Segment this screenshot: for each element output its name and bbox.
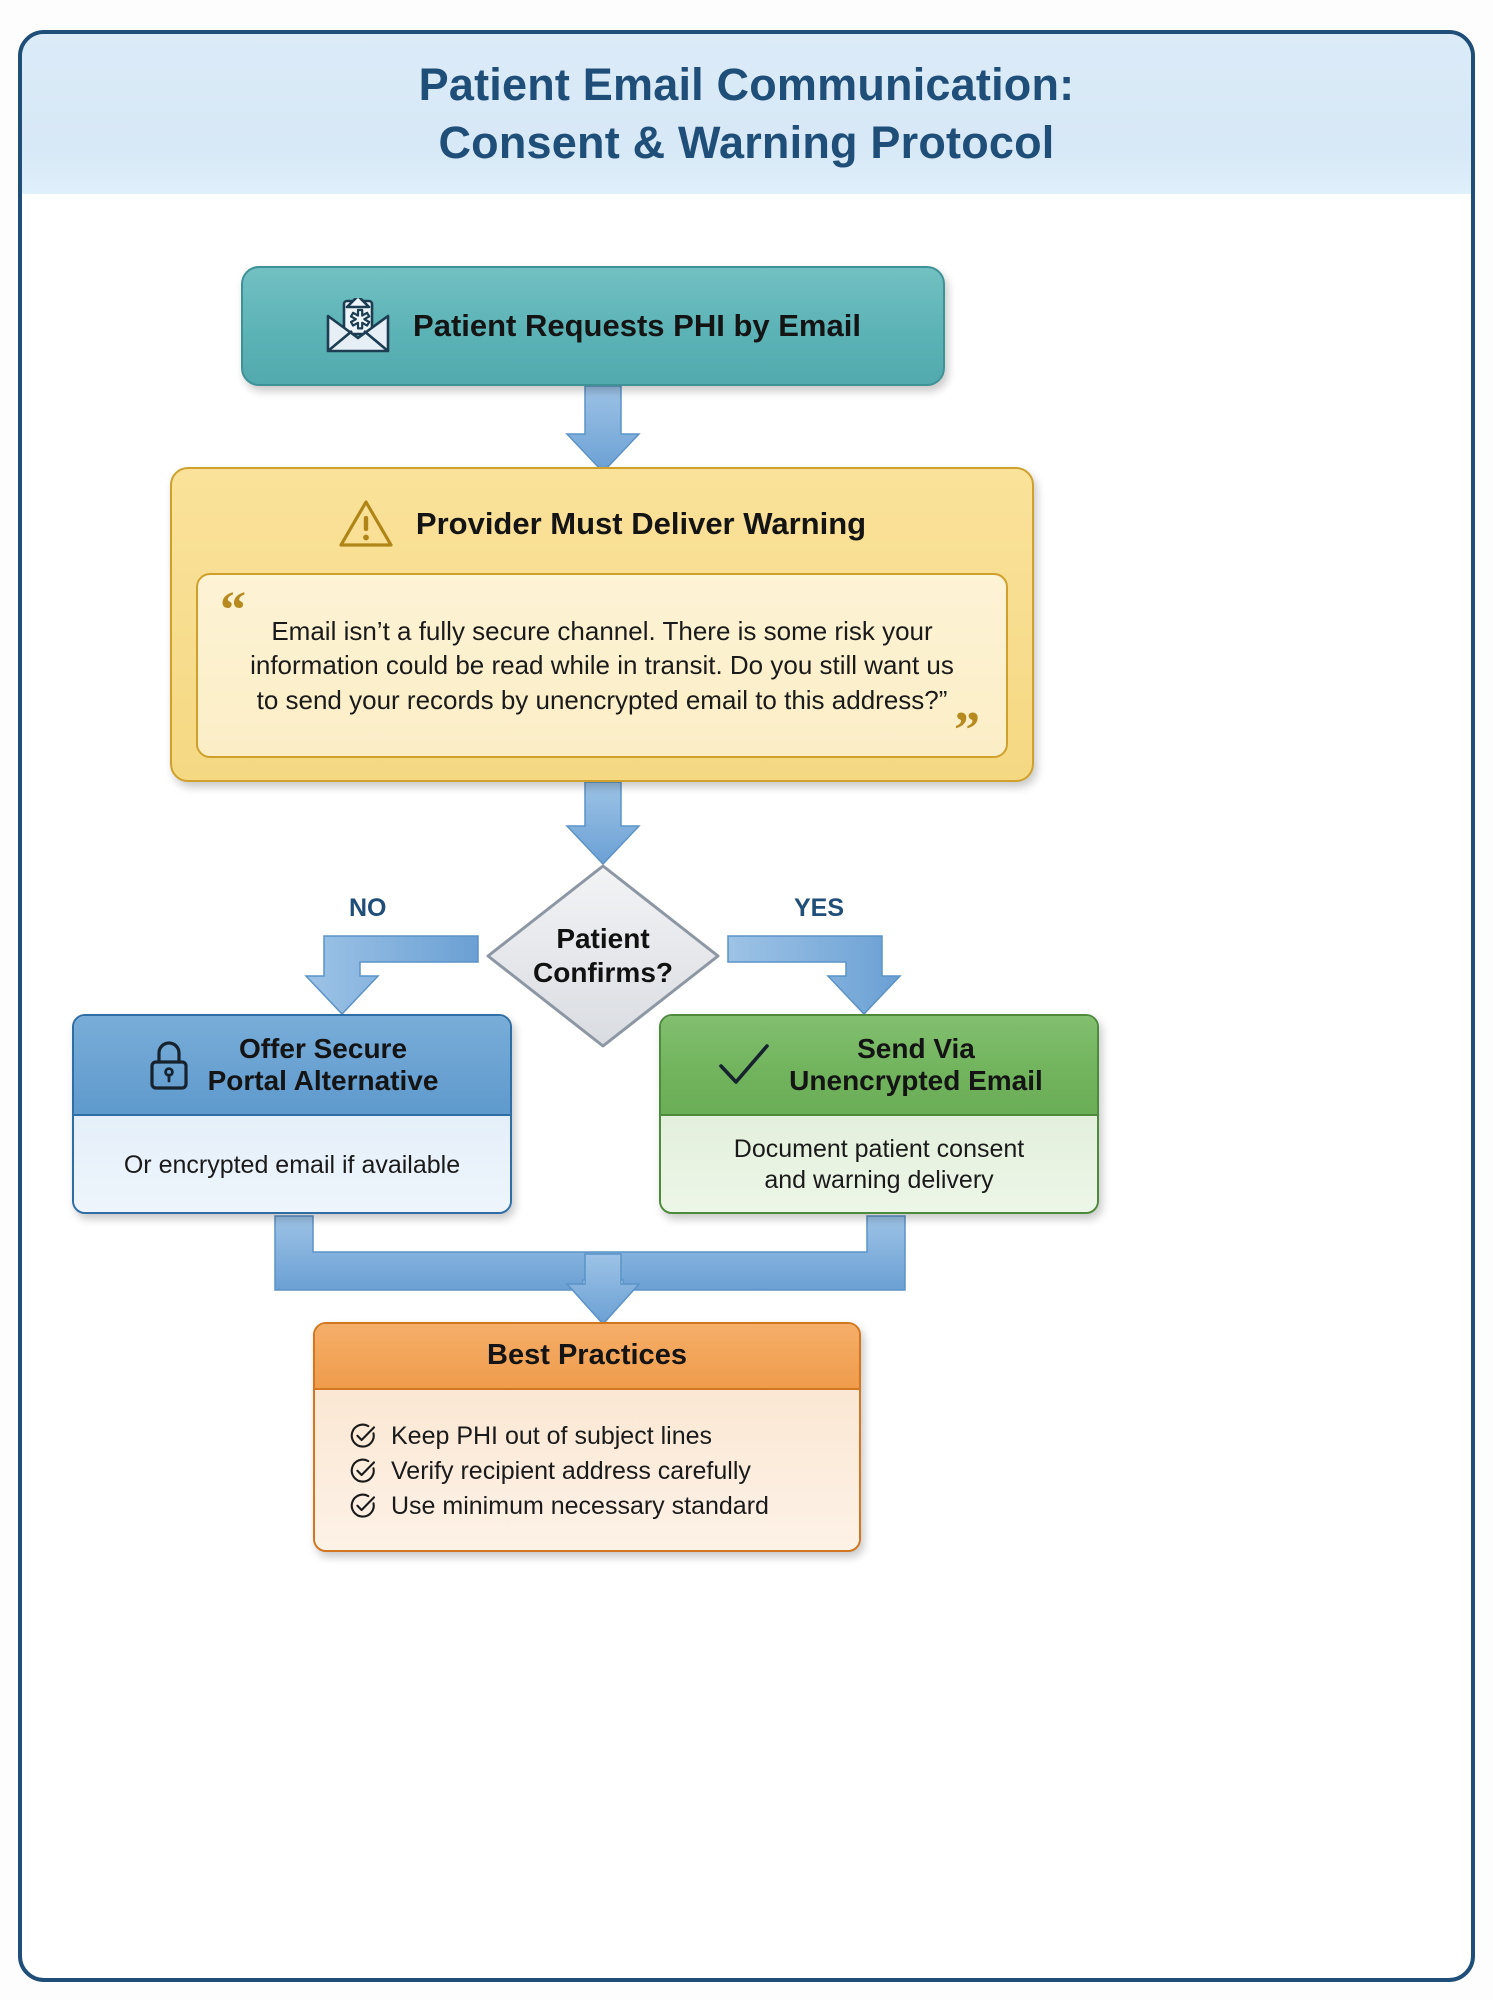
orange-head: Best Practices xyxy=(315,1324,859,1390)
list-item-label: Keep PHI out of subject lines xyxy=(391,1422,712,1451)
title-line-2: Consent & Warning Protocol xyxy=(419,114,1075,172)
medical-email-icon xyxy=(325,298,391,354)
arrow-start-to-warning xyxy=(567,386,639,472)
lock-icon xyxy=(146,1039,192,1091)
check-circle-icon xyxy=(349,1492,377,1520)
green-title-line-2: Unencrypted Email xyxy=(789,1065,1043,1096)
checkmark-icon xyxy=(715,1040,773,1090)
list-item-label: Use minimum necessary standard xyxy=(391,1492,769,1521)
warning-head: Provider Must Deliver Warning xyxy=(172,469,1032,565)
node-best-practices[interactable]: Best Practices Keep PHI out of subject l… xyxy=(313,1322,861,1552)
green-title: Send Via Unencrypted Email xyxy=(789,1033,1043,1098)
list-item: Keep PHI out of subject lines xyxy=(349,1422,859,1451)
best-practices-list: Keep PHI out of subject lines Verify rec… xyxy=(315,1390,859,1552)
green-body-line-1: Document patient consent xyxy=(734,1134,1024,1165)
start-head: Patient Requests PHI by Email xyxy=(243,268,943,384)
page-title: Patient Email Communication: Consent & W… xyxy=(419,56,1075,171)
branch-label-no: NO xyxy=(349,894,387,923)
header-band: Patient Email Communication: Consent & W… xyxy=(22,34,1471,194)
list-item: Verify recipient address carefully xyxy=(349,1457,859,1486)
check-circle-icon xyxy=(349,1422,377,1450)
arrow-decision-no xyxy=(304,936,478,1014)
flowchart-page: Patient Email Communication: Consent & W… xyxy=(0,0,1493,2000)
check-circle-icon xyxy=(349,1457,377,1485)
decision-line-2: Confirms? xyxy=(533,956,673,990)
blue-title: Offer Secure Portal Alternative xyxy=(208,1033,439,1098)
warning-label: Provider Must Deliver Warning xyxy=(416,506,866,542)
blue-body: Or encrypted email if available xyxy=(74,1116,510,1214)
list-item: Use minimum necessary standard xyxy=(349,1492,859,1521)
start-label: Patient Requests PHI by Email xyxy=(413,308,861,344)
title-line-1: Patient Email Communication: xyxy=(419,56,1075,114)
node-send-unencrypted-email[interactable]: Send Via Unencrypted Email Document pati… xyxy=(659,1014,1099,1214)
flow-canvas: Patient Requests PHI by Email Provider M… xyxy=(22,194,1471,1982)
list-item-label: Verify recipient address carefully xyxy=(391,1457,751,1486)
quote-open-icon: “ xyxy=(220,581,246,640)
green-title-line-1: Send Via xyxy=(857,1033,975,1064)
arrow-warning-to-decision xyxy=(567,782,639,864)
node-patient-requests[interactable]: Patient Requests PHI by Email xyxy=(241,266,945,386)
warning-triangle-icon xyxy=(338,498,394,550)
node-offer-secure-portal[interactable]: Offer Secure Portal Alternative Or encry… xyxy=(72,1014,512,1214)
branch-label-yes: YES xyxy=(794,894,844,923)
decision-line-1: Patient xyxy=(533,922,673,956)
arrow-decision-yes xyxy=(728,936,900,1014)
quote-close-icon: ” xyxy=(954,701,980,760)
blue-title-line-1: Offer Secure xyxy=(239,1033,407,1064)
arrow-merge-to-best-practices xyxy=(275,1216,905,1324)
blue-head: Offer Secure Portal Alternative xyxy=(74,1016,510,1116)
node-provider-warning[interactable]: Provider Must Deliver Warning “ Email is… xyxy=(170,467,1034,782)
best-practices-title: Best Practices xyxy=(487,1339,687,1373)
green-body: Document patient consent and warning del… xyxy=(661,1116,1097,1214)
green-body-line-2: and warning delivery xyxy=(734,1165,1024,1196)
warning-script-text: Email isn’t a fully secure channel. Ther… xyxy=(198,614,1006,718)
warning-script-box: “ Email isn’t a fully secure channel. Th… xyxy=(196,573,1008,758)
diagram-frame: Patient Email Communication: Consent & W… xyxy=(18,30,1475,1982)
green-head: Send Via Unencrypted Email xyxy=(661,1016,1097,1116)
blue-title-line-2: Portal Alternative xyxy=(208,1065,439,1096)
